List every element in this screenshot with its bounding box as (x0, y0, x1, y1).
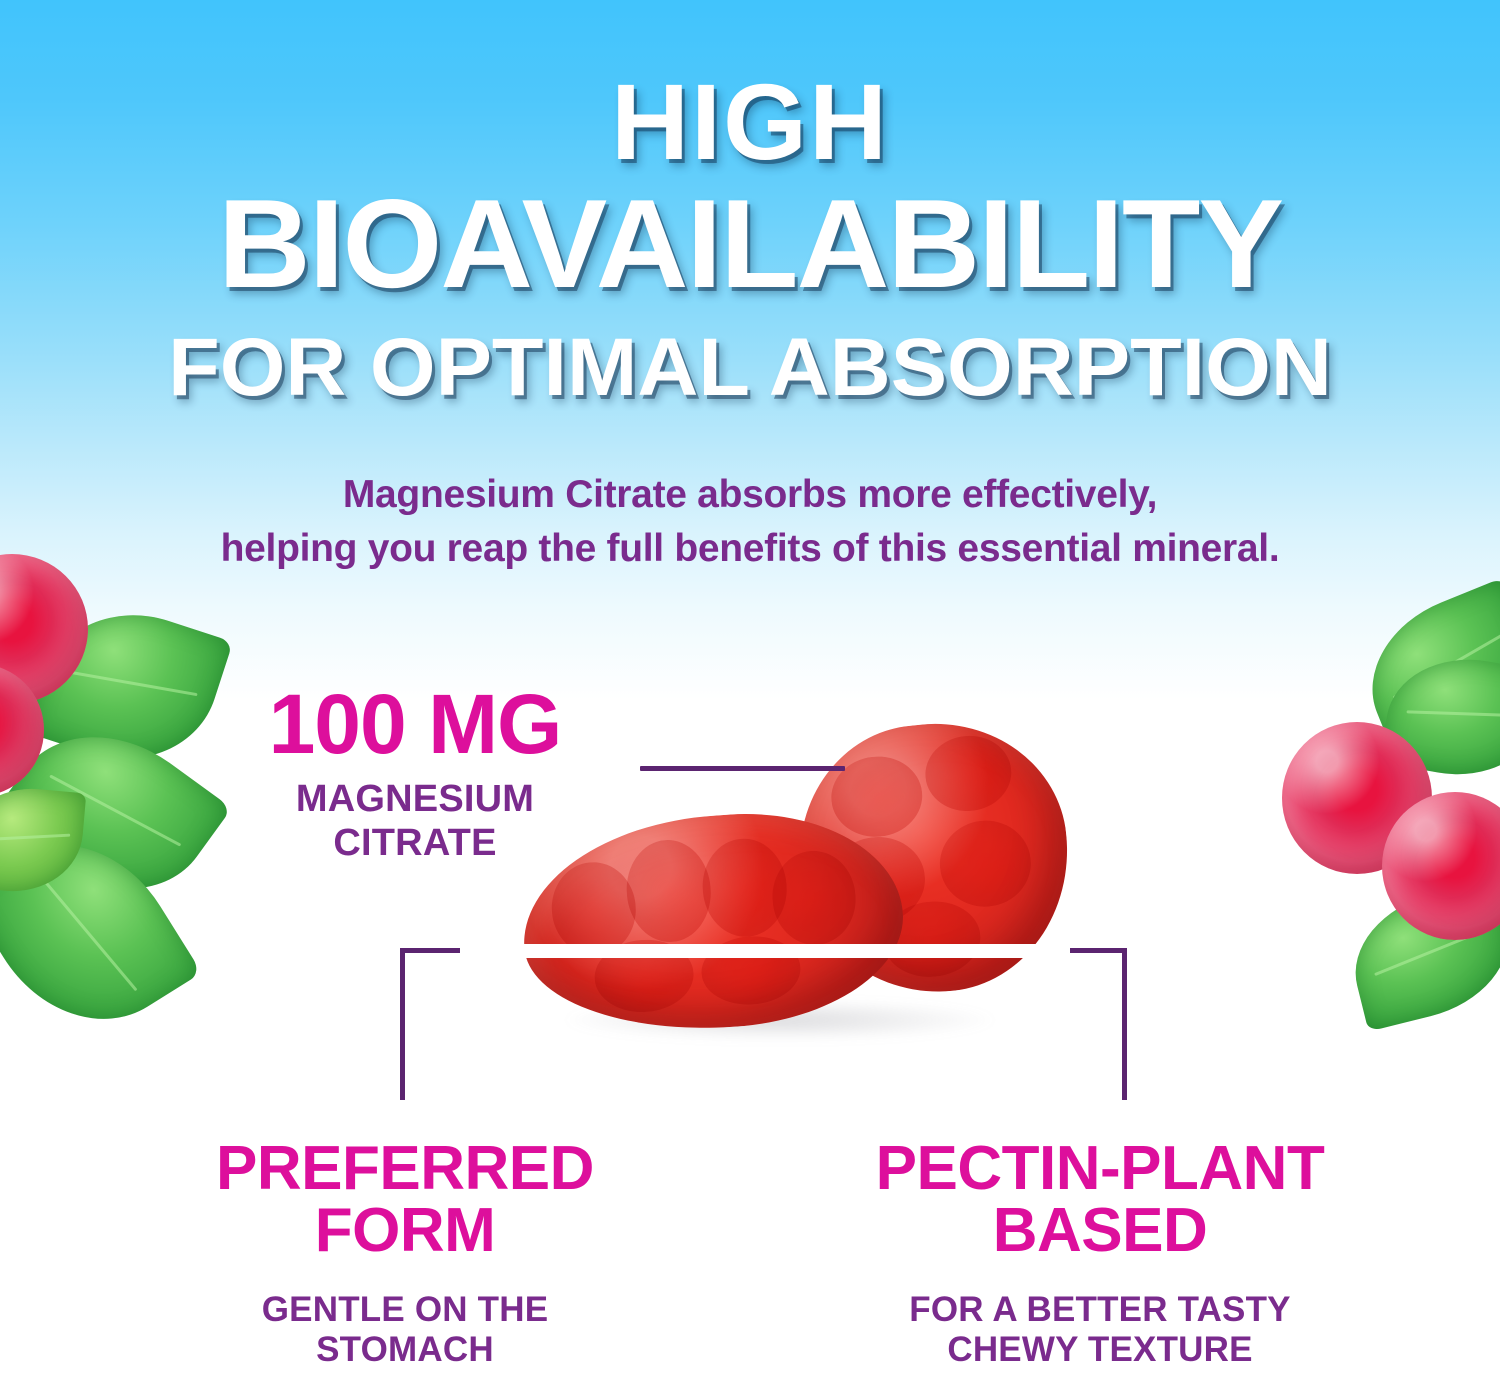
callout-preferred-form-sub-line-2: STOMACH (110, 1330, 700, 1370)
leader-bracket (400, 948, 1127, 1100)
raspberry-mint-decoration-right (1270, 596, 1500, 1016)
leader-bracket-mask (460, 944, 1070, 958)
subtitle-line-1: Magnesium Citrate absorbs more effective… (0, 468, 1500, 522)
callout-preferred-form-sub: GENTLE ON THE STOMACH (110, 1290, 700, 1371)
callout-dose-sub-line-1: MAGNESIUM (190, 778, 640, 822)
callout-preferred-form-headline: PREFERRED FORM (110, 1138, 700, 1262)
callout-preferred-form: PREFERRED FORM GENTLE ON THE STOMACH (110, 1138, 700, 1371)
callout-pectin-headline-line-2: BASED (800, 1200, 1400, 1262)
leader-line-dose (640, 766, 845, 771)
callout-preferred-form-headline-line-1: PREFERRED (110, 1138, 700, 1200)
callout-dose-sub-line-2: CITRATE (190, 822, 640, 866)
callout-pectin-headline: PECTIN-PLANT BASED (800, 1138, 1400, 1262)
callout-pectin-sub-line-2: CHEWY TEXTURE (800, 1330, 1400, 1370)
infographic-canvas: HIGH BIOAVAILABILITY FOR OPTIMAL ABSORPT… (0, 0, 1500, 1382)
callout-pectin-sub-line-1: FOR A BETTER TASTY (800, 1290, 1400, 1330)
headline-line-3: FOR OPTIMAL ABSORPTION (0, 330, 1500, 405)
callout-pectin-headline-line-1: PECTIN-PLANT (800, 1138, 1400, 1200)
callout-preferred-form-sub-line-1: GENTLE ON THE (110, 1290, 700, 1330)
callout-pectin-sub: FOR A BETTER TASTY CHEWY TEXTURE (800, 1290, 1400, 1371)
headline-line-1: HIGH (0, 72, 1500, 171)
callout-dose-headline: 100 MG (190, 682, 640, 766)
headline-line-2: BIOAVAILABILITY (0, 186, 1500, 302)
callout-dose: 100 MG MAGNESIUM CITRATE (190, 682, 640, 865)
callout-dose-sub: MAGNESIUM CITRATE (190, 778, 640, 865)
callout-preferred-form-headline-line-2: FORM (110, 1200, 700, 1262)
callout-pectin-plant-based: PECTIN-PLANT BASED FOR A BETTER TASTY CH… (800, 1138, 1400, 1371)
